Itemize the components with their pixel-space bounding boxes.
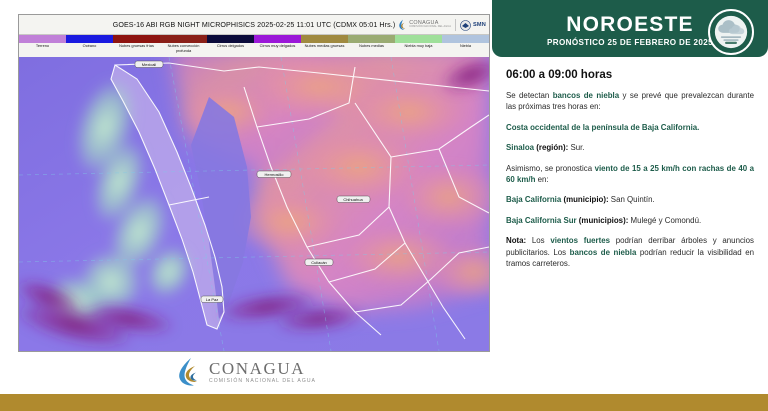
forecast-infographic: GOES-16 ABI RGB NIGHT MICROPHISICS 2025-… bbox=[0, 0, 768, 411]
forecast-paragraph-area-sinaloa: Sinaloa (región): Sur. bbox=[506, 142, 754, 153]
forecast-body: 06:00 a 09:00 horas Se detectan bancos d… bbox=[492, 57, 768, 269]
legend-color-bar bbox=[19, 35, 489, 43]
legend-swatch bbox=[207, 35, 254, 43]
region-title: NOROESTE bbox=[566, 13, 693, 36]
legend-label: Cirrus delgados bbox=[207, 43, 254, 57]
legend-swatch bbox=[442, 35, 489, 43]
legend-label: Nubes gruesas frías bbox=[113, 43, 160, 57]
legend-labels: TerrenoOcéanoNubes gruesas fríasNubes co… bbox=[19, 43, 489, 57]
water-wave-icon bbox=[176, 357, 202, 387]
satellite-image: Mexicali Hermosillo Chihuahua La Paz bbox=[19, 57, 489, 351]
satellite-header: GOES-16 ABI RGB NIGHT MICROPHISICS 2025-… bbox=[19, 15, 489, 35]
smn-logo: SMN bbox=[460, 20, 486, 31]
legend-label: Terreno bbox=[19, 43, 66, 57]
svg-text:La Paz: La Paz bbox=[206, 297, 218, 302]
forecast-date-subtitle: PRONÓSTICO 25 DE FEBRERO DE 2025 bbox=[547, 38, 713, 47]
legend-label: Cirrus muy delgados bbox=[254, 43, 301, 57]
product-legend: TerrenoOcéanoNubes gruesas fríasNubes co… bbox=[19, 35, 489, 57]
conagua-footer-logo: CONAGUA COMISIÓN NACIONAL DEL AGUA bbox=[0, 356, 492, 388]
fog-cloud-glyph bbox=[714, 15, 748, 49]
svg-text:Culiacán: Culiacán bbox=[311, 260, 327, 265]
smn-logo-text: SMN bbox=[473, 22, 486, 28]
forecast-paragraph-wind-baja-california: Baja California (municipio): San Quintín… bbox=[506, 194, 754, 205]
water-wave-icon bbox=[398, 19, 407, 31]
conagua-logo-small: CONAGUA COMISIÓN NACIONAL DEL AGUA bbox=[398, 19, 451, 31]
satellite-title: GOES-16 ABI RGB NIGHT MICROPHISICS 2025-… bbox=[113, 21, 396, 29]
legend-label: Nubes medias gruesas bbox=[301, 43, 348, 57]
legend-label: Nubes convección profunda bbox=[160, 43, 207, 57]
legend-label: Niebla muy baja bbox=[395, 43, 442, 57]
svg-text:Mexicali: Mexicali bbox=[142, 62, 157, 67]
forecast-paragraph-wind-forecast: Asimismo, se pronostica viento de 15 a 2… bbox=[506, 163, 754, 186]
svg-text:Chihuahua: Chihuahua bbox=[343, 197, 363, 202]
forecast-paragraph-note: Nota: Los vientos fuertes podrían derrib… bbox=[506, 235, 754, 269]
forecast-card: NOROESTE PRONÓSTICO 25 DE FEBRERO DE 202… bbox=[492, 0, 768, 411]
forecast-paragraph-fog-detection: Se detectan bancos de niebla y se prevé … bbox=[506, 90, 754, 113]
logo-divider bbox=[455, 19, 456, 31]
satellite-panel: GOES-16 ABI RGB NIGHT MICROPHISICS 2025-… bbox=[18, 14, 490, 352]
legend-swatch bbox=[66, 35, 113, 43]
legend-swatch bbox=[254, 35, 301, 43]
header-logos: CONAGUA COMISIÓN NACIONAL DEL AGUA SMN bbox=[398, 17, 486, 33]
svg-text:Hermosillo: Hermosillo bbox=[265, 172, 285, 177]
legend-swatch bbox=[160, 35, 207, 43]
forecast-paragraph-wind-baja-california-sur: Baja California Sur (municipios): Mulegé… bbox=[506, 215, 754, 226]
legend-label: Niebla bbox=[442, 43, 489, 57]
footer-logo-name: CONAGUA bbox=[209, 360, 316, 377]
gold-accent-bar bbox=[0, 394, 768, 411]
footer-logo-subtitle: COMISIÓN NACIONAL DEL AGUA bbox=[209, 379, 316, 384]
legend-label: Nubes medias bbox=[348, 43, 395, 57]
legend-swatch bbox=[113, 35, 160, 43]
forecast-paragraph-list: Se detectan bancos de niebla y se prevé … bbox=[506, 90, 754, 269]
forecast-time-range: 06:00 a 09:00 horas bbox=[506, 69, 754, 81]
fog-cloud-icon bbox=[708, 9, 754, 55]
legend-swatch bbox=[395, 35, 442, 43]
satellite-rgb-composite: Mexicali Hermosillo Chihuahua La Paz bbox=[19, 57, 489, 351]
legend-swatch bbox=[19, 35, 66, 43]
smn-eagle-icon bbox=[460, 20, 471, 31]
forecast-header: NOROESTE PRONÓSTICO 25 DE FEBRERO DE 202… bbox=[492, 0, 768, 57]
legend-swatch bbox=[348, 35, 395, 43]
legend-label: Océano bbox=[66, 43, 113, 57]
legend-swatch bbox=[301, 35, 348, 43]
conagua-logo-subtext: COMISIÓN NACIONAL DEL AGUA bbox=[409, 26, 451, 29]
forecast-paragraph-area-baja-coast: Costa occidental de la península de Baja… bbox=[506, 122, 754, 133]
